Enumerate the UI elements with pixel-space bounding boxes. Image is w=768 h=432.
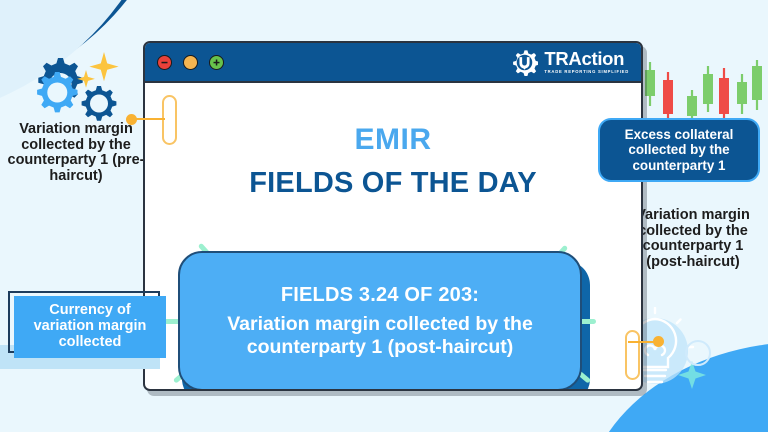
connector-pill-right	[625, 330, 640, 380]
minimize-button[interactable]	[157, 55, 172, 70]
card-title: Variation margin collected by the counte…	[196, 313, 564, 357]
window-titlebar: TRAction TRADE REPORTING SIMPLIFIED	[145, 43, 641, 83]
connector-dot-left	[126, 114, 137, 125]
heading-emir: EMIR	[145, 123, 641, 157]
gear-arrow-logo-icon	[511, 49, 538, 76]
brand-tagline: TRADE REPORTING SIMPLIFIED	[544, 70, 629, 74]
gears-icon	[22, 52, 132, 124]
heading-fields-of-the-day: FIELDS OF THE DAY	[145, 167, 641, 200]
callout-left-top: Variation margin collected by the counte…	[6, 122, 146, 185]
callout-left-bottom: Currency of variation margin collected	[14, 296, 166, 358]
field-card: FIELDS 3.24 OF 203: Variation margin col…	[178, 251, 590, 391]
connector-dot-right	[653, 336, 664, 347]
poster-canvas: TRAction TRADE REPORTING SIMPLIFIED EMIR…	[0, 0, 768, 432]
card-body: FIELDS 3.24 OF 203: Variation margin col…	[178, 251, 582, 391]
connector-pill-left	[162, 95, 177, 145]
browser-window: TRAction TRADE REPORTING SIMPLIFIED EMIR…	[143, 41, 643, 391]
maximize-button[interactable]	[183, 55, 198, 70]
callout-right-middle: Variation margin collected by the counte…	[622, 208, 764, 271]
expand-button[interactable]	[209, 55, 224, 70]
window-controls	[157, 55, 224, 70]
callout-right-top: Excess collateral collected by the count…	[598, 118, 760, 182]
card-kicker: FIELDS 3.24 OF 203:	[281, 284, 479, 307]
window-content: EMIR FIELDS OF THE DAY FIELDS 3.24 OF 20…	[145, 83, 641, 391]
page-heading: EMIR FIELDS OF THE DAY	[145, 123, 641, 200]
brand-logo: TRAction TRADE REPORTING SIMPLIFIED	[511, 49, 629, 76]
brand-name: TRAction	[544, 50, 629, 69]
